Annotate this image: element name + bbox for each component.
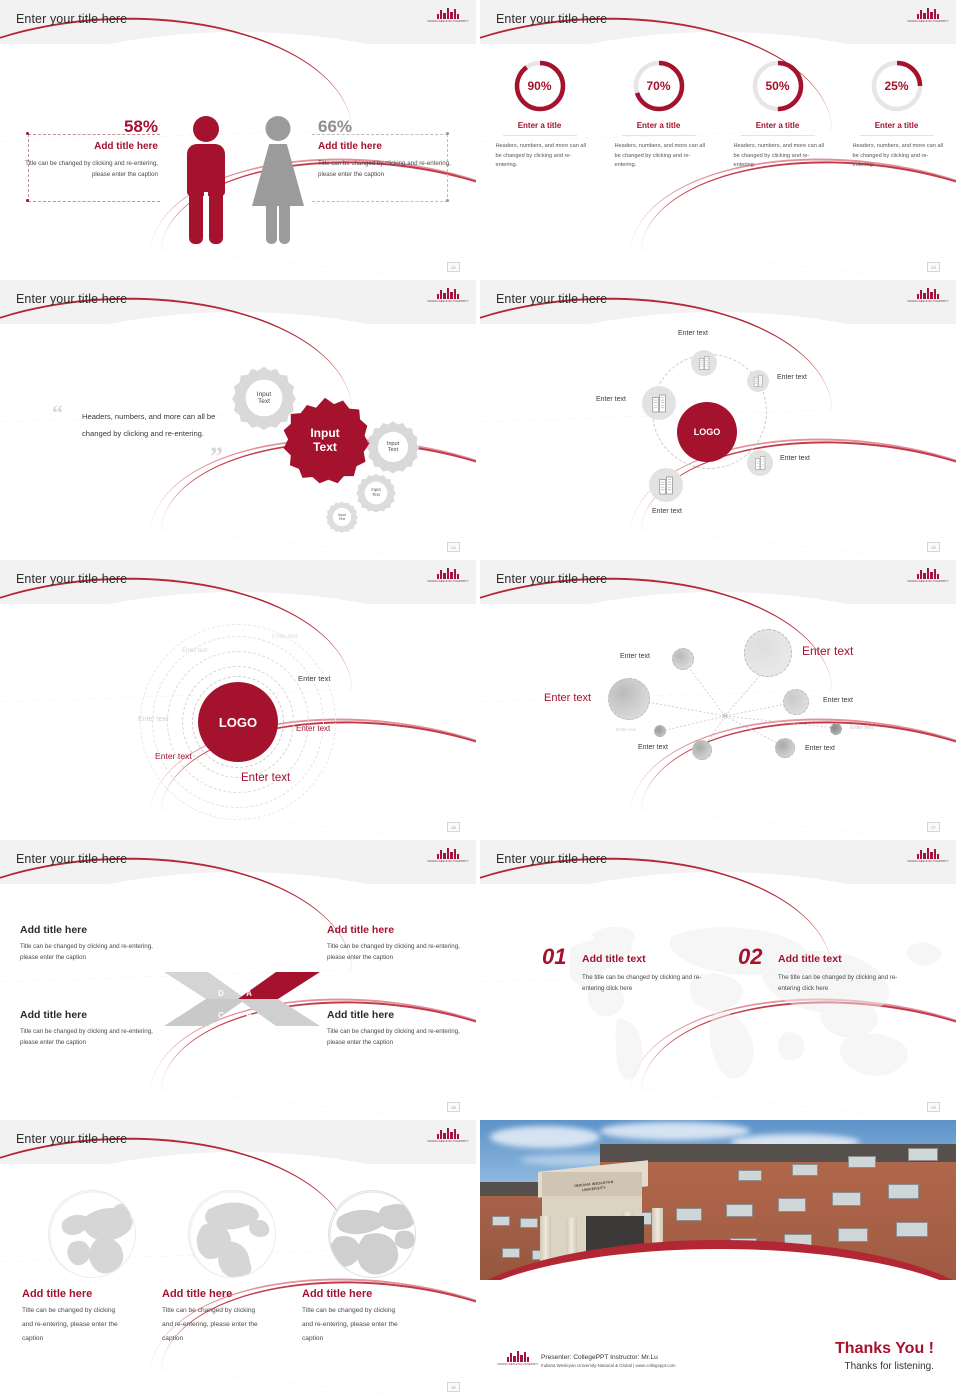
donut-item[interactable]: 50% Enter a title Headers, numbers, and …: [728, 58, 828, 171]
x-letter-d: D: [215, 987, 227, 999]
logo-subtext: INDIANA WESLEYAN UNIVERSITY: [427, 20, 468, 23]
x-letter-c: C: [215, 1009, 227, 1021]
network-node[interactable]: [783, 689, 809, 715]
quote-close-icon: ”: [210, 442, 223, 472]
iwu-logo-icon: INDIANA WESLEYAN UNIVERSITY: [432, 8, 464, 27]
slide-title: Enter your title here: [16, 1132, 127, 1146]
iwu-logo-icon: INDIANA WESLEYAN UNIVERSITY: [912, 568, 944, 587]
building-node-icon[interactable]: [649, 468, 683, 502]
donut-value: 90%: [512, 58, 568, 114]
globe-caption: Title can be changed by clicking and re-…: [22, 1304, 120, 1346]
building-node-icon[interactable]: [747, 370, 769, 392]
gear-shape[interactable]: Input Text: [365, 419, 421, 475]
page-number: 23: [927, 262, 940, 272]
node-label: Enter text: [544, 692, 591, 704]
node-label: Enter text: [678, 330, 708, 337]
donut-item[interactable]: 25% Enter a title Headers, numbers, and …: [847, 58, 947, 171]
slide-thanks[interactable]: INDIANA WESLEYAN UNIVERSITY Thanks You !…: [480, 1120, 960, 1400]
quote-text: Headers, numbers, and more can all be ch…: [82, 408, 222, 442]
slide-title: Enter your title here: [16, 852, 127, 866]
node-label: Enter text: [652, 508, 682, 515]
ring-label: Enter text: [155, 751, 192, 761]
globe-heading: Add title here: [162, 1288, 302, 1300]
block-heading: Add title here: [327, 924, 467, 936]
node-label: Enter text: [850, 725, 873, 731]
iwu-logo-icon: INDIANA WESLEYAN UNIVERSITY: [912, 288, 944, 307]
gear-shape[interactable]: Input Text: [355, 472, 397, 514]
iwu-logo-icon: INDIANA WESLEYAN UNIVERSITY: [432, 1128, 464, 1147]
network-node[interactable]: [744, 629, 792, 677]
x-letter-a: A: [243, 987, 255, 999]
logo-subtext: INDIANA WESLEYAN UNIVERSITY: [427, 860, 468, 863]
globe-heading: Add title here: [302, 1288, 442, 1300]
slide-title: Enter your title here: [496, 292, 607, 306]
gear-line1: Input: [310, 426, 339, 440]
gear-line2: Text: [388, 447, 398, 453]
center-logo[interactable]: LOGO: [198, 682, 278, 762]
center-logo[interactable]: LOGO: [677, 402, 737, 462]
network-edges: [480, 604, 956, 836]
quadrant-block[interactable]: Add title here Title can be changed by c…: [327, 1009, 467, 1048]
logo-subtext: INDIANA WESLEYAN UNIVERSITY: [907, 20, 948, 23]
globe-item[interactable]: Add title here Title can be changed by c…: [22, 1190, 162, 1346]
slide-title: Enter your title here: [496, 572, 607, 586]
page-number: 26: [447, 822, 460, 832]
donut-item[interactable]: 70% Enter a title Headers, numbers, and …: [609, 58, 709, 171]
campus-building-photo: INDIANA WESLEYAN UNIVERSITY: [480, 1120, 956, 1280]
logo-subtext: INDIANA WESLEYAN UNIVERSITY: [907, 300, 948, 303]
x-letter-b: B: [243, 1009, 255, 1021]
page-number: 25: [927, 542, 940, 552]
network-node[interactable]: [672, 648, 694, 670]
node-label: Enter text: [823, 697, 853, 704]
node-label: Enter text: [777, 374, 807, 381]
step-number: 02: [738, 944, 762, 970]
world-map-background: [530, 906, 950, 1096]
iwu-logo-icon: INDIANA WESLEYAN UNIVERSITY: [432, 848, 464, 867]
block-caption: Title can be changed by clicking and re-…: [327, 1026, 467, 1048]
network-node[interactable]: [830, 723, 842, 735]
right-percent: 66%: [318, 117, 438, 137]
block-heading: Add title here: [20, 924, 160, 936]
right-heading: Add title here: [318, 141, 438, 152]
slide-x-quadrant[interactable]: Enter your title here INDIANA WESLEYAN U…: [0, 840, 480, 1120]
iwu-logo-icon: INDIANA WESLEYAN UNIVERSITY: [432, 568, 464, 587]
slide-thumbnail-grid: Enter your title here INDIANA WESLEYAN U…: [0, 0, 960, 1400]
page-number: 24: [447, 542, 460, 552]
male-figure-icon: [185, 116, 227, 244]
ring-label: Enter text: [241, 772, 290, 784]
logo-subtext: INDIANA WESLEYAN UNIVERSITY: [497, 1363, 538, 1366]
page-number: 30: [447, 1382, 460, 1392]
globe-caption: Title can be changed by clicking and re-…: [162, 1304, 260, 1346]
donut-item[interactable]: 90% Enter a title Headers, numbers, and …: [490, 58, 590, 171]
node-label: Enter text: [620, 653, 650, 660]
building-node-icon[interactable]: [642, 386, 676, 420]
donut-title: Enter a title: [728, 121, 828, 130]
thanks-title: Thanks You !: [835, 1340, 934, 1358]
step-caption: The title can be changed by clicking and…: [778, 972, 918, 994]
slide-title: Enter your title here: [496, 852, 607, 866]
donut-title: Enter a title: [490, 121, 590, 130]
quadrant-block[interactable]: Add title here Title can be changed by c…: [20, 1009, 160, 1048]
ring-label: Enter text: [298, 674, 331, 683]
globe-item[interactable]: Add title here Title can be changed by c…: [302, 1190, 442, 1346]
node-label: Enter text: [805, 745, 835, 752]
block-caption: Title can be changed by clicking and re-…: [327, 941, 467, 963]
donut-caption: Headers, numbers, and more can all be ch…: [609, 142, 709, 171]
ring-label: Enter text: [182, 648, 208, 654]
left-heading: Add title here: [40, 141, 158, 152]
slide-title: Enter your title here: [16, 292, 127, 306]
iwu-logo-icon: INDIANA WESLEYAN UNIVERSITY: [432, 288, 464, 307]
node-label: Enter text: [638, 744, 668, 751]
step-number: 01: [542, 944, 566, 970]
presenter-sub: Indiana Wesleyan University-National & G…: [541, 1363, 676, 1368]
left-percent: 58%: [40, 117, 158, 137]
donut-chart-icon: 25%: [869, 58, 925, 114]
network-node[interactable]: [692, 740, 712, 760]
quadrant-block[interactable]: Add title here Title can be changed by c…: [20, 924, 160, 963]
building-node-icon[interactable]: [747, 450, 773, 476]
network-node[interactable]: [775, 738, 795, 758]
iwu-logo-icon: INDIANA WESLEYAN UNIVERSITY: [502, 1351, 534, 1370]
block-caption: Title can be changed by clicking and re-…: [20, 1026, 160, 1048]
block-heading: Add title here: [327, 1009, 467, 1021]
network-node[interactable]: [608, 678, 650, 720]
gear-line2: Text: [258, 398, 270, 405]
logo-subtext: INDIANA WESLEYAN UNIVERSITY: [427, 300, 468, 303]
donut-chart-icon: 90%: [512, 58, 568, 114]
logo-subtext: INDIANA WESLEYAN UNIVERSITY: [427, 580, 468, 583]
quote-open-icon: “: [52, 400, 63, 426]
quadrant-block[interactable]: Add title here Title can be changed by c…: [327, 924, 467, 963]
globe-icon: [328, 1190, 416, 1278]
right-caption: Title can be changed by clicking and re-…: [318, 158, 458, 180]
network-node[interactable]: [654, 725, 666, 737]
ring-label: Enter text: [138, 716, 168, 723]
step-heading: Add title text: [582, 953, 646, 965]
globe-icon: [48, 1190, 136, 1278]
donut-caption: Headers, numbers, and more can all be ch…: [490, 142, 590, 171]
slide-three-globes[interactable]: Enter your title here INDIANA WESLEYAN U…: [0, 1120, 480, 1400]
slide-gears[interactable]: Enter your title here INDIANA WESLEYAN U…: [0, 280, 480, 560]
donut-value: 50%: [750, 58, 806, 114]
donut-chart-icon: 50%: [750, 58, 806, 114]
gear-line1: Input: [257, 391, 271, 398]
donut-chart-icon: 70%: [631, 58, 687, 114]
block-caption: Title can be changed by clicking and re-…: [20, 941, 160, 963]
slide-network[interactable]: Enter your title here INDIANA WESLEYAN U…: [480, 560, 960, 840]
donut-list: 90% Enter a title Headers, numbers, and …: [480, 58, 956, 171]
logo-subtext: INDIANA WESLEYAN UNIVERSITY: [427, 1140, 468, 1143]
iwu-logo-icon: INDIANA WESLEYAN UNIVERSITY: [912, 848, 944, 867]
thanks-block: Thanks You ! Thanks for listening.: [835, 1340, 934, 1372]
node-label: Enter text: [616, 727, 636, 732]
page-number: 29: [927, 1102, 940, 1112]
globe-item[interactable]: Add title here Title can be changed by c…: [162, 1190, 302, 1346]
female-figure-icon: [252, 116, 304, 244]
node-label: Enter text: [802, 644, 853, 658]
iwu-logo-icon: INDIANA WESLEYAN UNIVERSITY: [912, 8, 944, 27]
logo-subtext: INDIANA WESLEYAN UNIVERSITY: [907, 580, 948, 583]
presenter-line: Presenter: CollegePPT Instructor: Mr.Lu: [541, 1354, 676, 1361]
ring-label: Enter text: [272, 634, 298, 640]
donut-title: Enter a title: [609, 121, 709, 130]
page-number: 27: [927, 822, 940, 832]
gear-line2: Text: [313, 440, 337, 454]
left-caption: Title can be changed by clicking and re-…: [18, 158, 158, 180]
node-label: Enter text: [596, 396, 626, 403]
slide-two-steps-map[interactable]: Enter your title here INDIANA WESLEYAN U…: [480, 840, 960, 1120]
slide-title: Enter your title here: [16, 12, 127, 26]
gear-line2: Text: [339, 517, 346, 521]
slide-concentric-rings[interactable]: Enter your title here INDIANA WESLEYAN U…: [0, 560, 480, 840]
slide-people-percent[interactable]: Enter your title here INDIANA WESLEYAN U…: [0, 0, 480, 280]
x-diagram: [162, 949, 322, 1049]
donut-value: 70%: [631, 58, 687, 114]
globe-heading: Add title here: [22, 1288, 162, 1300]
slide-donut-chart[interactable]: Enter your title here INDIANA WESLEYAN U…: [480, 0, 960, 280]
thanks-subtitle: Thanks for listening.: [835, 1361, 934, 1372]
page-number: 28: [447, 1102, 460, 1112]
presenter-block: INDIANA WESLEYAN UNIVERSITY Presenter: C…: [502, 1351, 676, 1370]
slide-title: Enter your title here: [16, 572, 127, 586]
gear-line1: Input: [387, 441, 399, 447]
slide-logo-hub[interactable]: Enter your title here INDIANA WESLEYAN U…: [480, 280, 960, 560]
page-number: 22: [447, 262, 460, 272]
logo-subtext: INDIANA WESLEYAN UNIVERSITY: [907, 860, 948, 863]
donut-caption: Headers, numbers, and more can all be ch…: [847, 142, 947, 171]
slide-title: Enter your title here: [496, 12, 607, 26]
block-heading: Add title here: [20, 1009, 160, 1021]
donut-value: 25%: [869, 58, 925, 114]
step-caption: The title can be changed by clicking and…: [582, 972, 722, 994]
globe-icon: [188, 1190, 276, 1278]
donut-title: Enter a title: [847, 121, 947, 130]
donut-caption: Headers, numbers, and more can all be ch…: [728, 142, 828, 171]
gear-line2: Text: [372, 492, 380, 497]
gear-shape[interactable]: Input Text: [325, 500, 359, 534]
globe-caption: Title can be changed by clicking and re-…: [302, 1304, 400, 1346]
ring-label: Enter text: [296, 724, 330, 733]
step-heading: Add title text: [778, 953, 842, 965]
building-node-icon[interactable]: [691, 350, 717, 376]
node-label: Enter text: [780, 455, 810, 462]
